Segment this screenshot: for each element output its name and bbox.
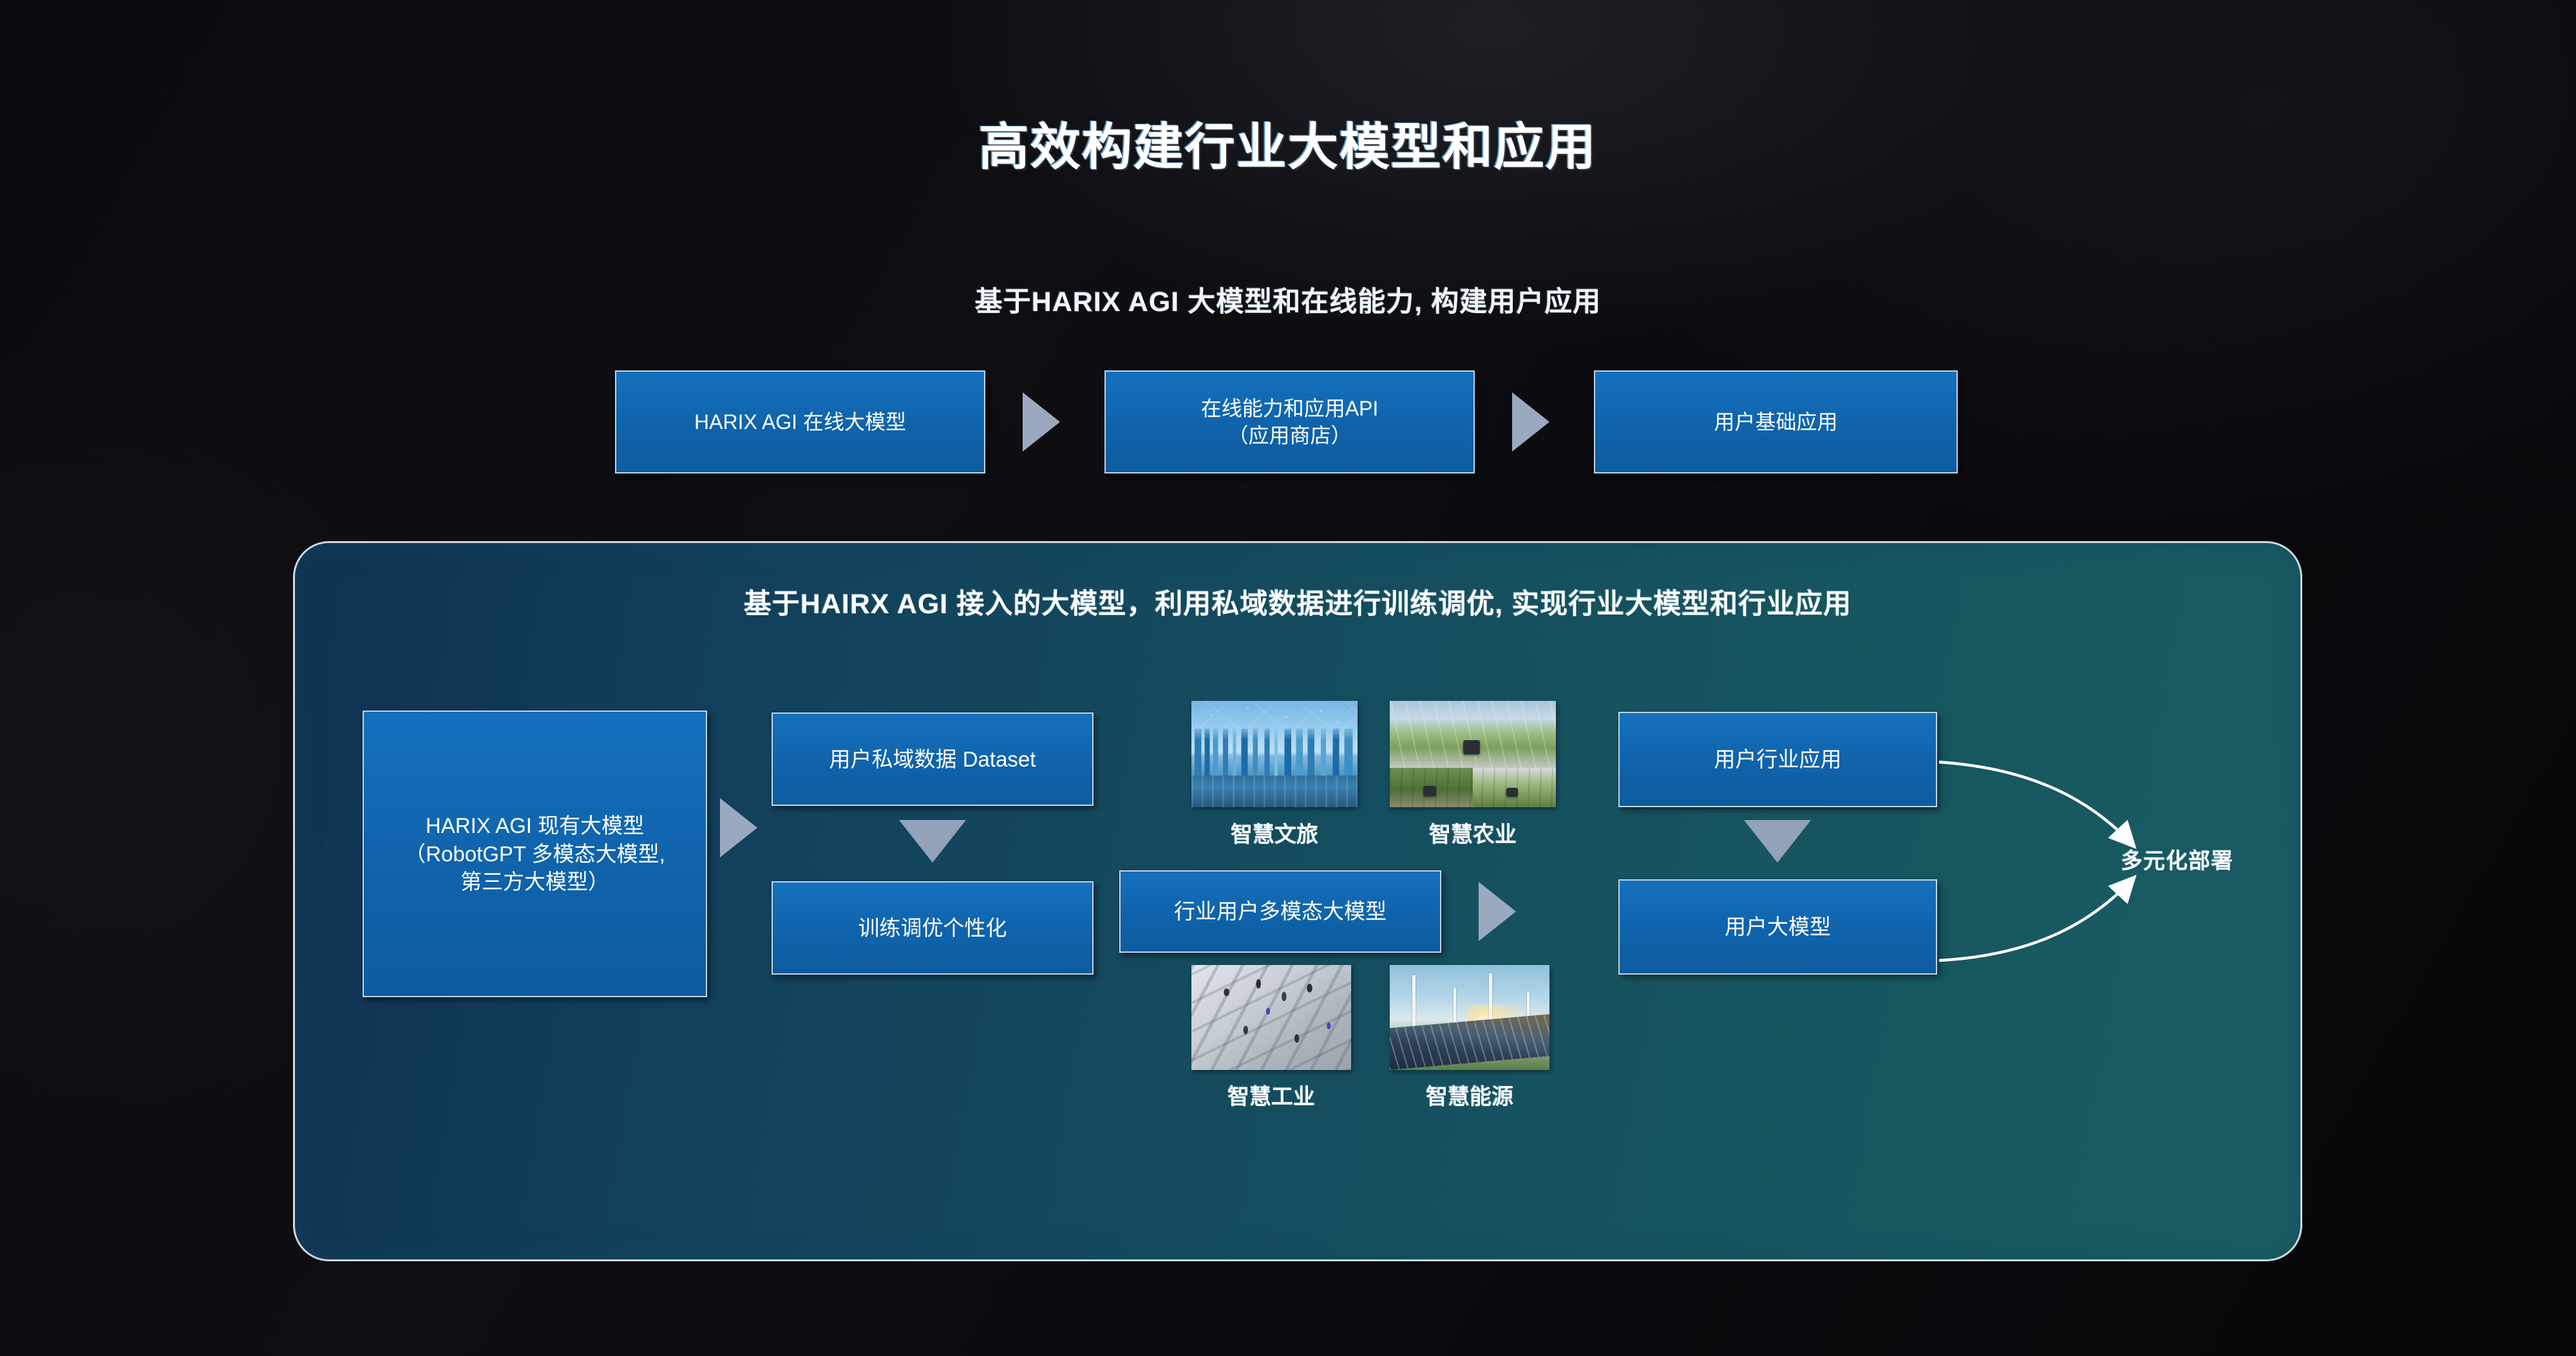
thumbnail-smart-agriculture <box>1390 701 1556 807</box>
training-box[interactable]: 训练调优个性化 <box>772 881 1094 975</box>
triangle-right-icon-3 <box>720 798 757 857</box>
user-industry-app-box[interactable]: 用户行业应用 <box>1618 712 1937 807</box>
smart-energy-image <box>1390 965 1549 1070</box>
agri-robot-icon-1 <box>1463 740 1480 754</box>
thumbnail-caption-smart-city: 智慧文旅 <box>1172 817 1377 848</box>
page-title: 高效构建行业大模型和应用 <box>0 107 2576 179</box>
deploy-arrow-top <box>1939 762 2134 846</box>
user-model-label: 用户大模型 <box>1725 913 1831 941</box>
triangle-right-icon-1 <box>1023 392 1060 452</box>
top-flow-box-1[interactable]: HARIX AGI 在线大模型 <box>615 370 985 473</box>
water-reflection-shape <box>1191 776 1358 808</box>
industry-user-model-box[interactable]: 行业用户多模态大模型 <box>1119 870 1441 953</box>
triangle-down-icon-1 <box>899 820 966 863</box>
top-flow-box-3-label: 用户基础应用 <box>1714 408 1837 435</box>
top-flow-box-2-label-line1: 在线能力和应用API <box>1201 395 1379 422</box>
source-model-box[interactable]: HARIX AGI 现有大模型 （RobotGPT 多模态大模型, 第三方大模型… <box>363 711 707 997</box>
user-model-box[interactable]: 用户大模型 <box>1618 879 1937 975</box>
smart-city-image <box>1191 701 1358 807</box>
skyline-shape <box>1191 729 1358 778</box>
source-model-line3: 第三方大模型） <box>460 868 609 896</box>
source-model-line1: HARIX AGI 现有大模型 <box>426 812 644 840</box>
top-flow-box-2[interactable]: 在线能力和应用API （应用商店） <box>1104 370 1475 473</box>
thumbnail-smart-city <box>1191 701 1358 807</box>
thumbnail-smart-energy <box>1390 965 1549 1070</box>
source-model-line2: （RobotGPT 多模态大模型, <box>404 840 665 868</box>
smart-agriculture-image <box>1390 701 1556 807</box>
thumbnail-caption-smart-agriculture: 智慧农业 <box>1370 817 1575 848</box>
deploy-label: 多元化部署 <box>2121 843 2233 875</box>
panel-headline: 基于HAIRX AGI 接入的大模型，利用私域数据进行训练调优, 实现行业大模型… <box>295 582 2300 622</box>
top-flow-box-1-label: HARIX AGI 在线大模型 <box>694 408 906 435</box>
subtitle: 基于HARIX AGI 大模型和在线能力, 构建用户应用 <box>0 280 2576 320</box>
top-flow-box-3[interactable]: 用户基础应用 <box>1594 370 1958 473</box>
slide-canvas: 高效构建行业大模型和应用 基于HARIX AGI 大模型和在线能力, 构建用户应… <box>0 0 2576 1356</box>
thumbnail-smart-industry <box>1191 965 1351 1070</box>
deploy-arrow-bottom <box>1939 878 2134 960</box>
training-box-label: 训练调优个性化 <box>858 914 1007 942</box>
dataset-box[interactable]: 用户私域数据 Dataset <box>772 712 1094 806</box>
field-rows-overlay <box>1390 768 1556 807</box>
greenhouse-shape <box>1390 701 1556 768</box>
triangle-right-icon-2 <box>1512 392 1549 452</box>
dataset-box-label: 用户私域数据 Dataset <box>829 745 1036 774</box>
agri-robot-icon-3 <box>1506 788 1518 797</box>
user-industry-app-label: 用户行业应用 <box>1714 745 1842 774</box>
triangle-down-icon-2 <box>1744 820 1811 863</box>
top-flow-box-2-label-line2: （应用商店） <box>1227 422 1351 449</box>
triangle-right-icon-4 <box>1479 882 1516 941</box>
industry-user-model-label: 行业用户多模态大模型 <box>1174 897 1387 926</box>
thumbnail-caption-smart-industry: 智慧工业 <box>1169 1079 1374 1111</box>
main-panel: 基于HAIRX AGI 接入的大模型，利用私域数据进行训练调优, 实现行业大模型… <box>293 541 2302 1261</box>
smart-industry-image <box>1191 965 1351 1070</box>
agri-robot-icon-2 <box>1423 786 1436 796</box>
thumbnail-caption-smart-energy: 智慧能源 <box>1367 1079 1572 1111</box>
